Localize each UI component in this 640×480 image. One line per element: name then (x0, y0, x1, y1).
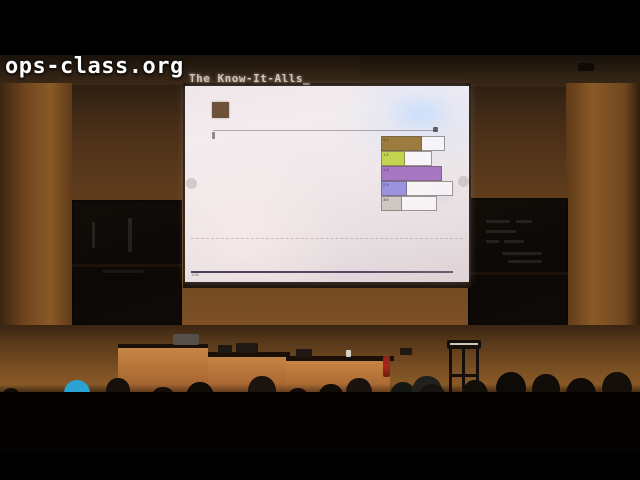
fire-extinguisher (383, 356, 390, 377)
equipment-object (236, 343, 258, 353)
stool-band (450, 343, 478, 345)
laptop-object (173, 334, 199, 345)
stool-leg (462, 349, 465, 389)
bar-label: 1.2 (383, 152, 389, 157)
wood-panel-right (566, 83, 640, 333)
equipment-object (218, 345, 232, 353)
slide-thumbnail-block (212, 102, 229, 118)
timeline-tick-icon (212, 132, 215, 139)
wood-panel-left (0, 83, 72, 333)
bar-label: 1.3 (383, 167, 389, 172)
letterbox-bottom (0, 452, 640, 480)
table-row[interactable]: 0.1 (381, 136, 459, 149)
slide-dashed-divider (191, 238, 463, 239)
equipment-object (400, 348, 412, 355)
letterbox-top (0, 0, 640, 55)
table-row[interactable]: 1.2 (381, 151, 459, 164)
bar-label: 0.1 (383, 137, 389, 142)
bar-label: 2.4 (383, 182, 389, 187)
slide-page-number: 1/38 (191, 272, 199, 277)
projected-slide[interactable]: 0.1 1.2 1.3 2.4 3/5 (185, 86, 469, 282)
timeline-end-marker-icon (433, 127, 438, 132)
chalkboard-right (468, 198, 568, 326)
bar-fill (381, 166, 442, 181)
bar-chart: 0.1 1.2 1.3 2.4 3/5 (381, 136, 459, 211)
projector-glare (385, 92, 455, 134)
cup-object (346, 350, 351, 357)
chalkboard-left (72, 200, 182, 325)
timeline-rule (213, 130, 437, 131)
watermark-logo: ops-class.org (5, 54, 184, 79)
bar-label: 3/5 (383, 197, 389, 202)
table-row[interactable]: 3/5 (381, 196, 459, 209)
slide-progress-bar[interactable] (191, 271, 453, 273)
slide-title: The Know-It-Alls_ (189, 72, 310, 85)
video-frame: The Know-It-Alls_ 0.1 1.2 1.3 (0, 0, 640, 480)
stool-rung (449, 374, 479, 377)
screen-knob-left (186, 178, 197, 189)
screen-knob-right (458, 176, 469, 187)
table-row[interactable]: 1.3 (381, 166, 459, 179)
table-row[interactable]: 2.4 (381, 181, 459, 194)
wall-speaker-icon (578, 63, 594, 71)
equipment-object (296, 349, 312, 357)
